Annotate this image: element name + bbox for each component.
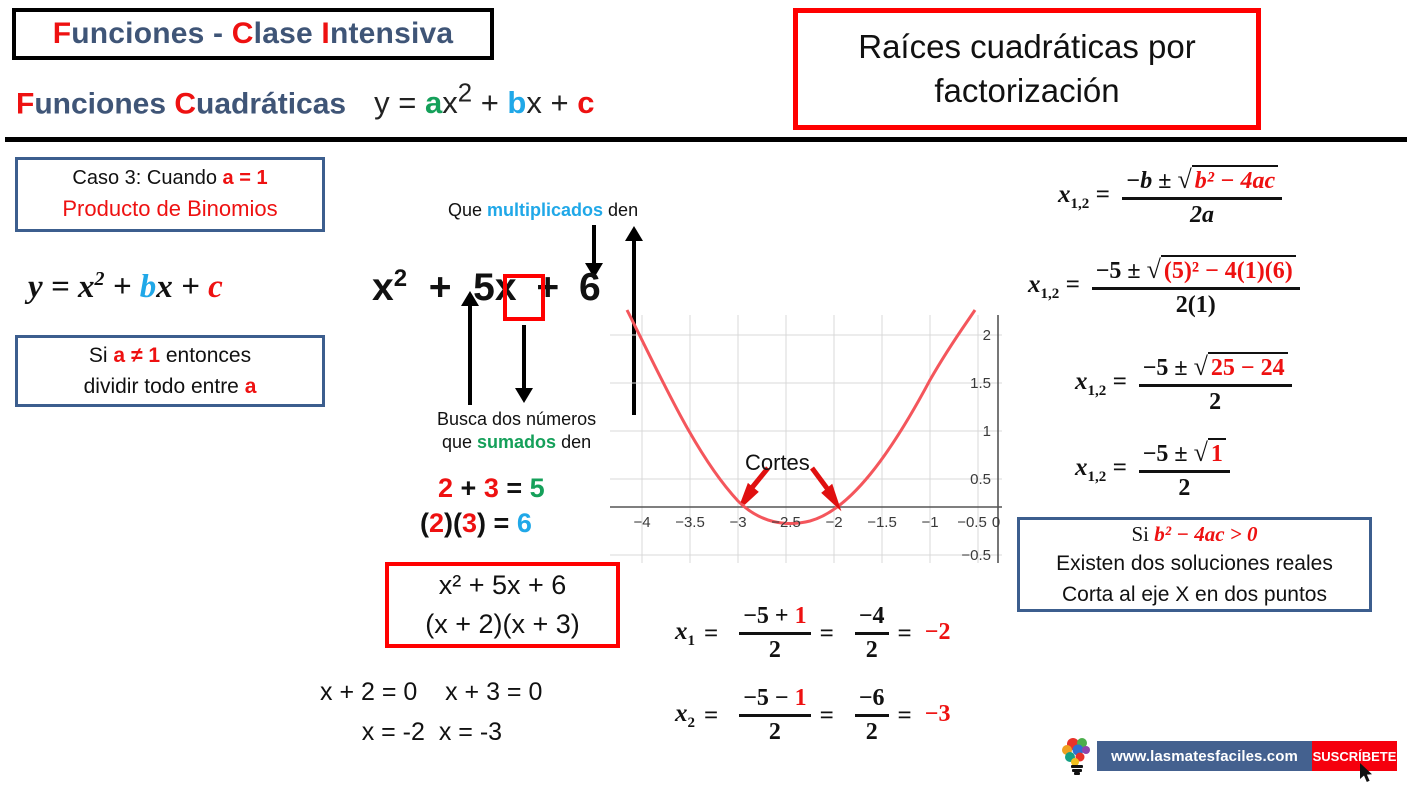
qf4-numerator: −5 ± √1 bbox=[1139, 438, 1230, 470]
qf2-fraction: −5 ± √(5)² − 4(1)(6) 2(1) bbox=[1092, 255, 1300, 319]
svg-text:1: 1 bbox=[983, 423, 991, 440]
qf2-denominator: 2(1) bbox=[1176, 290, 1216, 319]
arrow-shaft-mult-down bbox=[592, 225, 596, 265]
svg-text:−2: −2 bbox=[825, 514, 842, 531]
factored-line-1: x² + 5x + 6 bbox=[439, 566, 567, 605]
qf3-lhs: x1,2 = bbox=[1075, 368, 1127, 400]
res1-eq-3: = bbox=[898, 620, 912, 648]
res2-num-2: −6 bbox=[855, 685, 889, 714]
svg-text:−2.5: −2.5 bbox=[771, 514, 801, 531]
multiply-hint-label: Que multiplicados den bbox=[448, 200, 638, 221]
res2-den-2: 2 bbox=[866, 717, 878, 746]
res1-eq-1: = bbox=[704, 620, 718, 648]
res2-eq-3: = bbox=[898, 702, 912, 730]
course-title-box: Funciones - Clase Intensiva bbox=[12, 8, 494, 60]
qf3-fraction: −5 ± √25 − 24 2 bbox=[1139, 352, 1292, 416]
plus-sign-highlight-box bbox=[503, 274, 545, 321]
svg-text:−4: −4 bbox=[633, 514, 650, 531]
parabola-curve bbox=[627, 310, 975, 524]
trinomial-expression: x2 + 5x + 6 bbox=[372, 265, 601, 310]
topic-line-2: factorización bbox=[934, 69, 1119, 113]
svg-text:−1: −1 bbox=[921, 514, 938, 531]
qf1-fraction: −b ± √b² − 4ac 2a bbox=[1122, 165, 1282, 229]
multiplicados-keyword: multiplicados bbox=[487, 200, 603, 220]
res1-num-1: −5 + 1 bbox=[739, 603, 810, 632]
res1-den-1: 2 bbox=[769, 635, 781, 664]
svg-text:2: 2 bbox=[983, 327, 991, 344]
topic-line-1: Raíces cuadráticas por bbox=[858, 25, 1196, 69]
topic-title-box: Raíces cuadráticas por factorización bbox=[793, 8, 1261, 130]
res2-final: −3 bbox=[921, 701, 955, 730]
x-tick-labels: −4 −3.5 −3 −2.5 −2 −1.5 −1 −0.5 0 bbox=[633, 514, 1000, 531]
graph-svg: −4 −3.5 −3 −2.5 −2 −1.5 −1 −0.5 0 2 1.5 … bbox=[600, 305, 1012, 570]
product-equation: (2)(3) = 6 bbox=[420, 508, 532, 539]
qf1-numerator: −b ± √b² − 4ac bbox=[1122, 165, 1282, 197]
svg-text:1.5: 1.5 bbox=[970, 375, 991, 392]
discriminant-line-3: Corta al eje X en dos puntos bbox=[1062, 580, 1327, 610]
arrow-shaft-b-up bbox=[468, 305, 472, 405]
quadratic-formula-step3: x1,2 = −5 ± √25 − 24 2 bbox=[1075, 352, 1292, 416]
sum-hint-label: Busca dos números que sumados den bbox=[437, 408, 596, 455]
root-result-x1: x1 = −5 + 1 2 = −4 2 = −2 bbox=[675, 603, 954, 664]
svg-text:−0.5: −0.5 bbox=[961, 547, 991, 564]
cortes-label: Cortes bbox=[745, 450, 810, 476]
res2-fraction-2: −6 2 bbox=[855, 685, 889, 746]
arrow-shaft-sum-down bbox=[522, 325, 526, 390]
discriminant-line-2: Existen dos soluciones reales bbox=[1056, 549, 1333, 579]
res2-eq-2: = bbox=[820, 702, 834, 730]
arrow-head-prod-up bbox=[625, 226, 643, 241]
root-equations: x + 2 = 0 x + 3 = 0 x = -2 x = -3 bbox=[320, 672, 542, 752]
res1-den-2: 2 bbox=[866, 635, 878, 664]
res2-den-1: 2 bbox=[769, 717, 781, 746]
mouse-cursor-icon bbox=[1360, 763, 1376, 785]
case-a-value: a = 1 bbox=[223, 167, 268, 189]
factored-line-2: (x + 2)(x + 3) bbox=[425, 605, 580, 644]
res1-lhs: x1 bbox=[675, 618, 695, 650]
site-watermark[interactable]: www.lasmatesfaciles.com SUSCRÍBETE bbox=[1035, 735, 1397, 775]
case-line-1: Caso 3: Cuando a = 1 bbox=[72, 164, 267, 193]
arrow-head-b-up bbox=[461, 291, 479, 306]
qf2-lhs: x1,2 = bbox=[1028, 271, 1080, 303]
root-sol-1: x = -2 bbox=[362, 718, 425, 746]
lesson-subtitle: Funciones Cuadráticasy = ax2 + bx + c bbox=[16, 80, 594, 121]
divide-rule-box: Si a ≠ 1 entonces dividir todo entre a bbox=[15, 335, 325, 407]
quadratic-formula-step4: x1,2 = −5 ± √1 2 bbox=[1075, 438, 1230, 502]
course-title-text: Funciones - Clase Intensiva bbox=[53, 17, 454, 51]
quadratic-formula-substituted: x1,2 = −5 ± √(5)² − 4(1)(6) 2(1) bbox=[1028, 255, 1300, 319]
svg-text:−1.5: −1.5 bbox=[867, 514, 897, 531]
lightbulb-logo-icon bbox=[1057, 735, 1101, 775]
svg-text:0: 0 bbox=[992, 514, 1000, 531]
case-info-box: Caso 3: Cuando a = 1 Producto de Binomio… bbox=[15, 157, 325, 232]
svg-text:−3.5: −3.5 bbox=[675, 514, 705, 531]
res1-fraction-2: −4 2 bbox=[855, 603, 889, 664]
qf4-fraction: −5 ± √1 2 bbox=[1139, 438, 1230, 502]
qf4-lhs: x1,2 = bbox=[1075, 454, 1127, 486]
qf3-numerator: −5 ± √25 − 24 bbox=[1139, 352, 1292, 384]
root-eq-1: x + 2 = 0 bbox=[320, 678, 417, 706]
svg-text:0.5: 0.5 bbox=[970, 471, 991, 488]
divide-line-2: dividir todo entre a bbox=[84, 371, 257, 403]
res2-num-1: −5 − 1 bbox=[739, 685, 810, 714]
qf3-denominator: 2 bbox=[1209, 387, 1221, 416]
header-divider bbox=[5, 137, 1407, 142]
site-url-banner[interactable]: www.lasmatesfaciles.com bbox=[1097, 741, 1312, 771]
res1-eq-2: = bbox=[820, 620, 834, 648]
general-quadratic-formula: y = ax2 + bx + c bbox=[374, 85, 594, 120]
svg-text:−0.5: −0.5 bbox=[957, 514, 987, 531]
qf4-denominator: 2 bbox=[1178, 473, 1190, 502]
qf1-lhs: x1,2 = bbox=[1058, 181, 1110, 213]
root-eq-2: x + 3 = 0 bbox=[445, 678, 542, 706]
svg-text:−3: −3 bbox=[729, 514, 746, 531]
sumados-keyword: sumados bbox=[477, 432, 556, 452]
res2-fraction-1: −5 − 1 2 bbox=[739, 685, 810, 746]
discriminant-info-box: Si b² − 4ac > 0 Existen dos soluciones r… bbox=[1017, 517, 1372, 612]
res1-fraction-1: −5 + 1 2 bbox=[739, 603, 810, 664]
quadratic-form-equation: y = x2 + bx + c bbox=[28, 268, 223, 306]
root-result-x2: x2 = −5 − 1 2 = −6 2 = −3 bbox=[675, 685, 954, 746]
arrow-head-sum-down bbox=[515, 388, 533, 403]
res2-eq-1: = bbox=[704, 702, 718, 730]
case-line-2: Producto de Binomios bbox=[62, 193, 277, 225]
res2-lhs: x2 bbox=[675, 700, 695, 732]
res1-final: −2 bbox=[921, 619, 955, 648]
subscribe-button[interactable]: SUSCRÍBETE bbox=[1312, 741, 1397, 771]
sum-equation: 2 + 3 = 5 bbox=[438, 473, 545, 504]
lesson-subtitle-text: Funciones Cuadráticas bbox=[16, 87, 346, 120]
discriminant-condition: Si b² − 4ac > 0 bbox=[1131, 519, 1257, 549]
factorization-result-box: x² + 5x + 6 (x + 2)(x + 3) bbox=[385, 562, 620, 648]
parabola-graph: −4 −3.5 −3 −2.5 −2 −1.5 −1 −0.5 0 2 1.5 … bbox=[600, 305, 1012, 570]
root-sol-2: x = -3 bbox=[439, 718, 502, 746]
qf1-denominator: 2a bbox=[1190, 200, 1214, 229]
divide-line-1: Si a ≠ 1 entonces bbox=[89, 340, 251, 372]
qf2-numerator: −5 ± √(5)² − 4(1)(6) bbox=[1092, 255, 1300, 287]
res1-num-2: −4 bbox=[855, 603, 889, 632]
quadratic-formula-general: x1,2 = −b ± √b² − 4ac 2a bbox=[1058, 165, 1282, 229]
